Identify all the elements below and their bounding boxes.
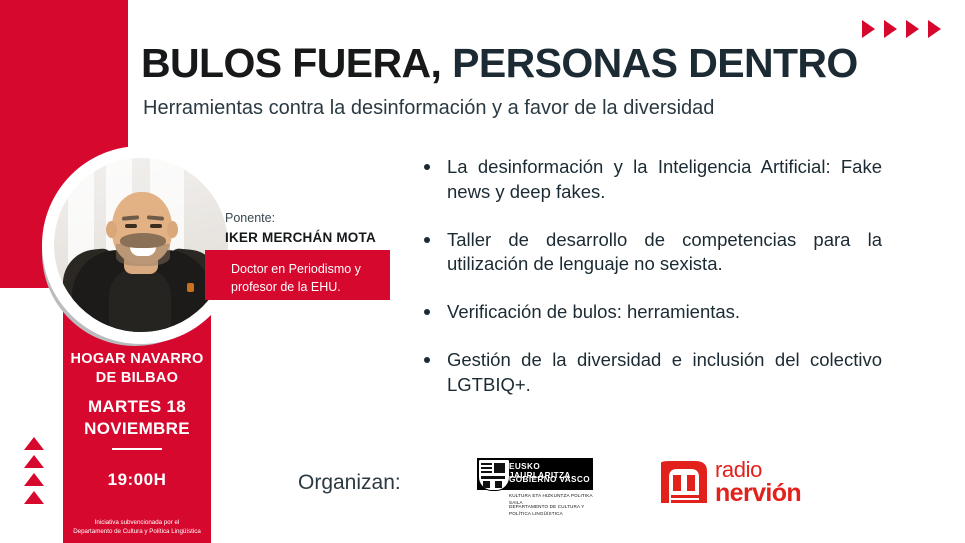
triangle-right-icon: [884, 20, 897, 38]
gv-coat-of-arms-icon: [478, 459, 510, 491]
venue-line-1: HOGAR NAVARRO: [63, 350, 211, 369]
gv-title-es: GOBIERNO VASCO: [509, 475, 590, 484]
page-title: BULOS FUERA, PERSONAS DENTRO: [141, 42, 941, 85]
bullet-dot-icon: [424, 309, 430, 315]
speaker-bio-text: Doctor en Periodismo y profesor de la EH…: [231, 261, 381, 297]
triangle-right-icon: [862, 20, 875, 38]
funding-fineprint: Iniciativa subvencionada por el Departam…: [63, 518, 211, 537]
portrait-lapel-pin: [187, 283, 194, 292]
gobierno-vasco-logo: EUSKO JAURLARITZA GOBIERNO VASCO KULTURA…: [453, 457, 593, 513]
event-time: 19:00H: [63, 470, 211, 490]
bullet-dot-icon: [424, 164, 430, 170]
list-item: La desinformación y la Inteligencia Arti…: [420, 155, 882, 205]
bullet-dot-icon: [424, 237, 430, 243]
triangle-up-icon: [24, 437, 44, 450]
triangle-column-decoration: [24, 437, 44, 504]
triangle-up-icon: [24, 473, 44, 486]
topics-list: La desinformación y la Inteligencia Arti…: [420, 155, 882, 397]
triangle-up-icon: [24, 455, 44, 468]
portrait-photo: [54, 158, 228, 332]
venue-line-2: DE BILBAO: [63, 369, 211, 388]
portrait-ear-left: [106, 221, 117, 238]
list-item-text: La desinformación y la Inteligencia Arti…: [447, 156, 882, 202]
triangle-row-decoration: [862, 20, 941, 38]
portrait-mustache: [120, 233, 166, 248]
speaker-name: IKER MERCHÁN MOTA: [225, 230, 376, 245]
list-item-text: Verificación de bulos: herramientas.: [447, 301, 740, 322]
date-line-2: NOVIEMBRE: [63, 418, 211, 440]
event-date: MARTES 18 NOVIEMBRE: [63, 396, 211, 440]
triangle-right-icon: [928, 20, 941, 38]
list-item: Taller de desarrollo de competencias par…: [420, 228, 882, 278]
triangle-right-icon: [906, 20, 919, 38]
page-subtitle: Herramientas contra la desinformación y …: [143, 97, 943, 120]
list-item: Verificación de bulos: herramientas.: [420, 300, 882, 325]
list-item-text: Gestión de la diversidad e inclusión del…: [447, 349, 882, 395]
speaker-avatar: [48, 152, 234, 338]
triangle-up-icon: [24, 491, 44, 504]
organizers-label: Organizan:: [298, 471, 401, 495]
portrait-eye-right: [150, 224, 162, 228]
portrait-shirt: [109, 268, 171, 332]
fineprint-line-2: Departamento de Cultura y Política Lingü…: [63, 527, 211, 536]
poster-canvas: BULOS FUERA, PERSONAS DENTRO Herramienta…: [0, 0, 965, 543]
speaker-role-label: Ponente:: [225, 211, 275, 225]
event-venue: HOGAR NAVARRO DE BILBAO: [63, 350, 211, 389]
headline-part-two: PERSONAS DENTRO: [452, 40, 858, 86]
radio-nervion-logo: radio nervión: [657, 455, 817, 510]
fineprint-line-1: Iniciativa subvencionada por el: [63, 518, 211, 527]
portrait-ear-right: [167, 221, 178, 238]
portrait-eye-left: [125, 224, 137, 228]
headline-part-one: BULOS FUERA,: [141, 40, 441, 86]
event-divider: [112, 448, 162, 450]
list-item: Gestión de la diversidad e inclusión del…: [420, 348, 882, 398]
date-line-1: MARTES 18: [63, 396, 211, 418]
list-item-text: Taller de desarrollo de competencias par…: [447, 229, 882, 275]
gv-department-es: DEPARTAMENTO DE CULTURA Y POLÍTICA LINGÜ…: [509, 504, 593, 517]
radio-nervion-word-nervion: nervión: [715, 479, 801, 508]
speaker-bio-box: Doctor en Periodismo y profesor de la EH…: [205, 250, 390, 300]
radio-nervion-mark-icon: [657, 457, 709, 507]
bullet-dot-icon: [424, 357, 430, 363]
